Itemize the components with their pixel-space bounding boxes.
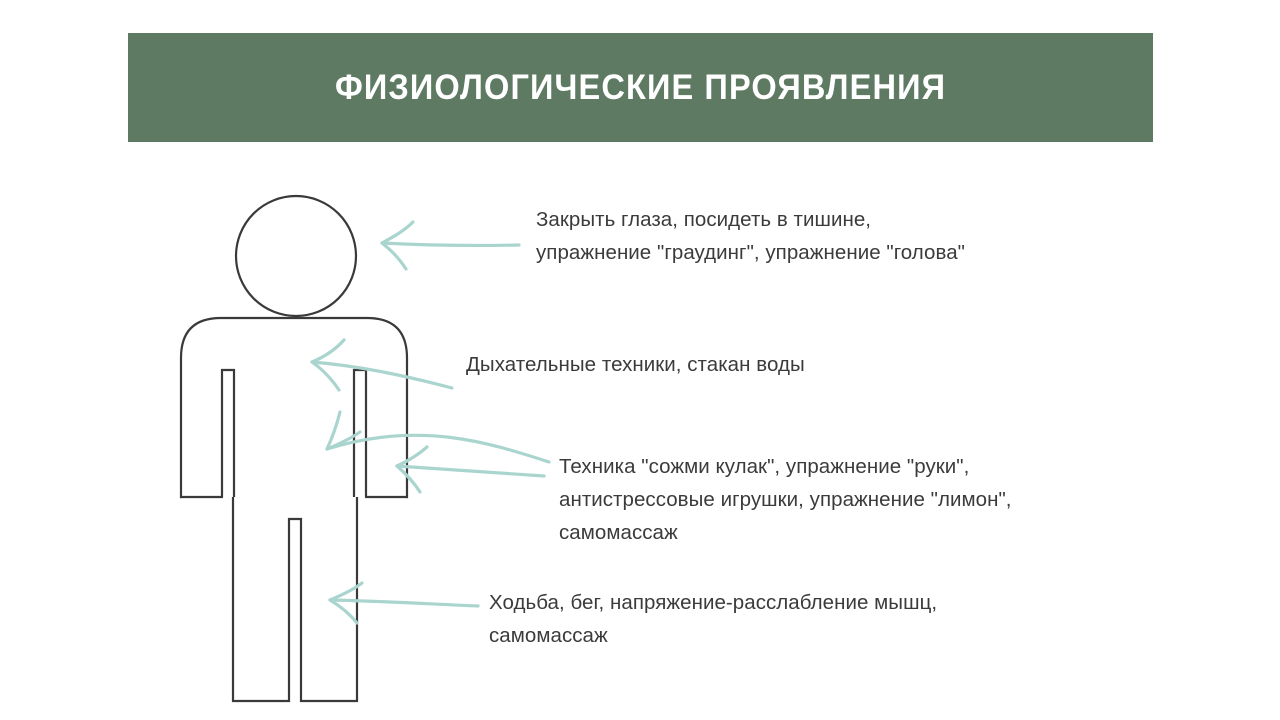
figure-head	[236, 196, 356, 316]
page-title: ФИЗИОЛОГИЧЕСКИЕ ПРОЯВЛЕНИЯ	[335, 70, 946, 105]
slide-canvas: ФИЗИОЛОГИЧЕСКИЕ ПРОЯВЛЕНИЯ	[0, 0, 1280, 720]
note-hands: Техника "сожми кулак", упражнение "руки"…	[559, 450, 1139, 549]
arrow-to-hand-icon	[397, 447, 544, 492]
arrow-to-arm-icon	[327, 412, 549, 462]
figure-right-arm-slot	[354, 370, 366, 497]
arrow-to-chest-icon	[312, 340, 452, 390]
arrow-to-head-icon	[382, 222, 519, 269]
arrow-to-legs-icon	[330, 583, 478, 623]
figure-left-leg	[233, 497, 357, 701]
figure-torso	[181, 318, 407, 497]
title-banner: ФИЗИОЛОГИЧЕСКИЕ ПРОЯВЛЕНИЯ	[128, 33, 1153, 142]
note-legs: Ходьба, бег, напряжение-расслабление мыш…	[489, 586, 1069, 652]
arrow-group	[312, 222, 549, 623]
note-head: Закрыть глаза, посидеть в тишине, упражн…	[536, 203, 1096, 269]
note-chest: Дыхательные техники, стакан воды	[466, 348, 936, 381]
figure-left-arm-slot	[222, 370, 234, 497]
